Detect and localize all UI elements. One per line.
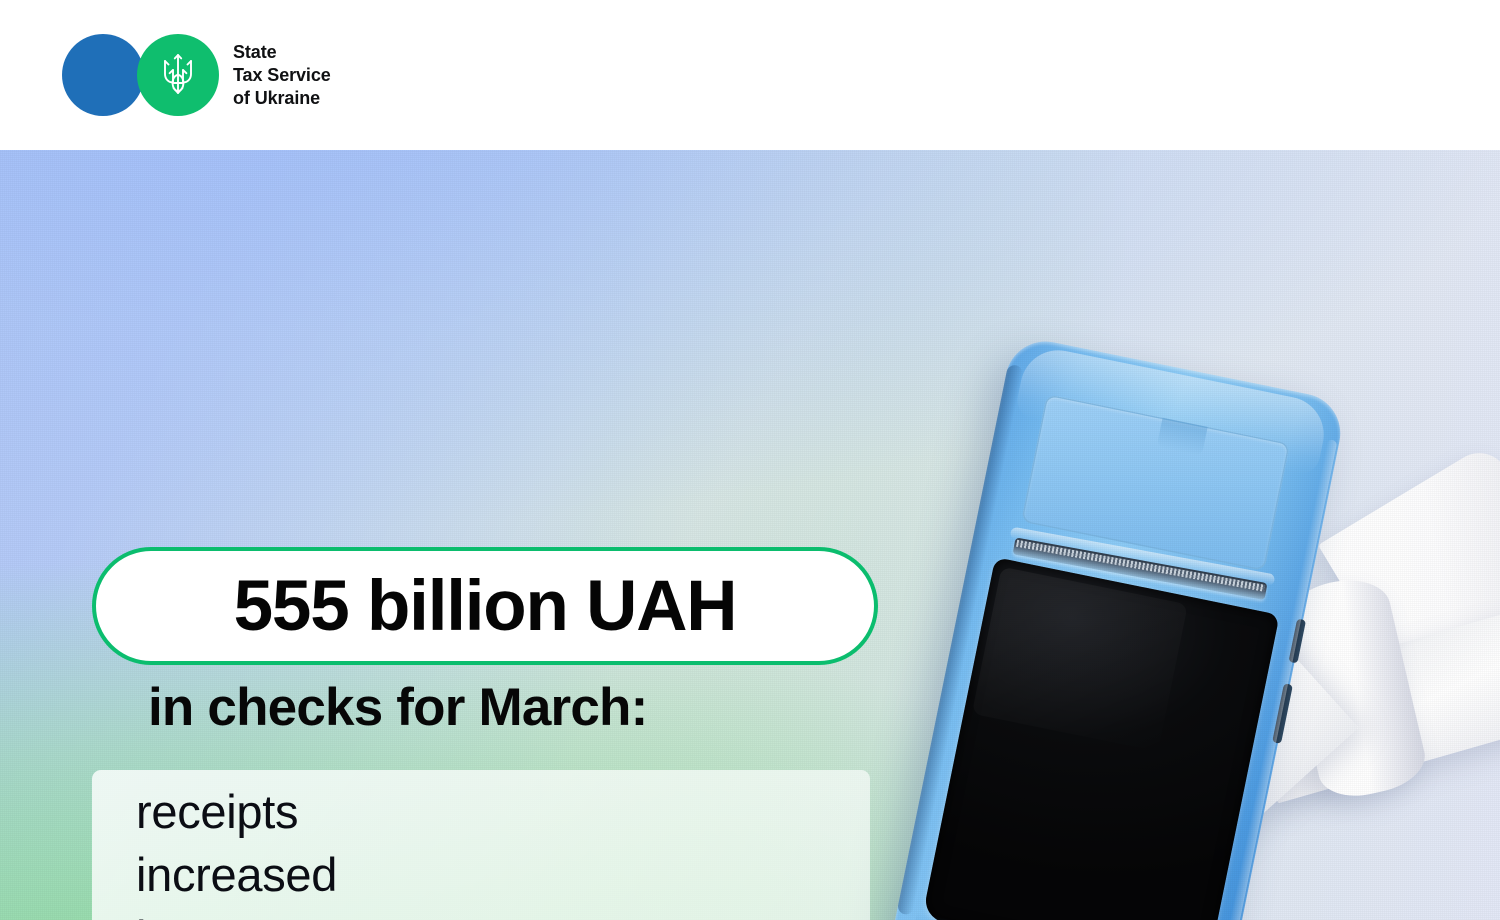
amount-badge: 555 billion UAH xyxy=(92,547,878,665)
body-text: receipts increased by almost a quarter xyxy=(136,780,337,920)
logo-marks xyxy=(62,34,217,116)
green-circle-icon xyxy=(137,34,219,116)
amount-headline: 555 billion UAH xyxy=(234,571,737,642)
hero-stage: 555 billion UAH in checks for March: rec… xyxy=(0,150,1500,920)
ukraine-trident-icon xyxy=(158,52,198,98)
infographic-poster: State Tax Service of Ukraine xyxy=(0,0,1500,920)
organization-logo[interactable]: State Tax Service of Ukraine xyxy=(62,34,331,116)
header-bar: State Tax Service of Ukraine xyxy=(0,0,1500,150)
subheadline: in checks for March: xyxy=(148,677,647,740)
organization-name: State Tax Service of Ukraine xyxy=(233,41,331,110)
blue-circle-icon xyxy=(62,34,144,116)
